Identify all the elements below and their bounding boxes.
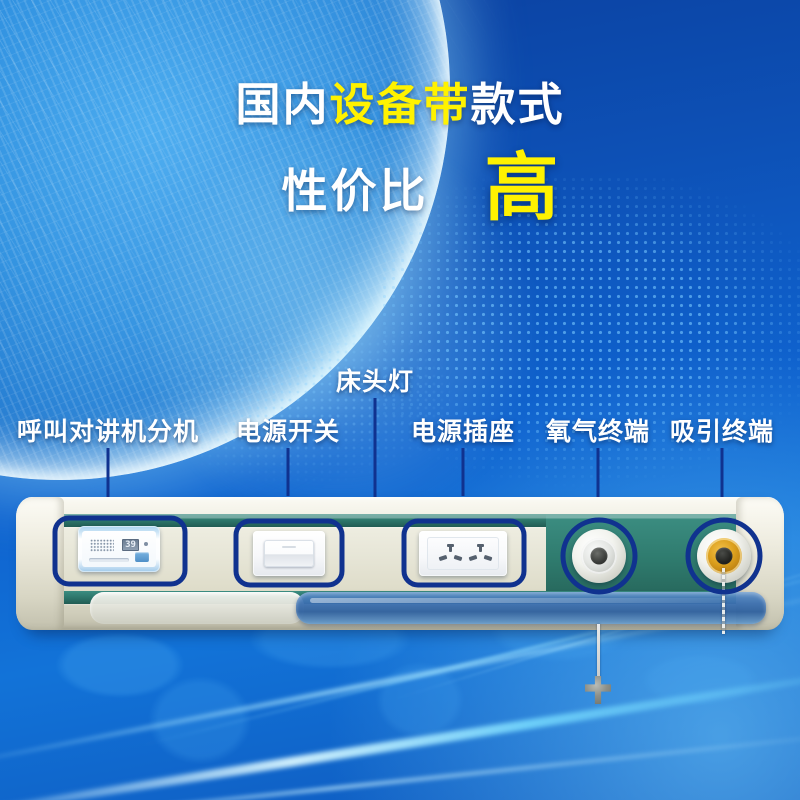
headline-line-1: 国内设备带款式 — [0, 82, 800, 127]
intercom-slot — [89, 558, 129, 562]
socket-pin-vertical — [479, 544, 482, 552]
headline-line-2: 性价比 高 — [0, 153, 800, 223]
headline-emphasis: 高 — [485, 153, 559, 223]
speaker-grille-icon — [90, 539, 114, 552]
status-led-icon — [144, 542, 148, 546]
pull-cord-suction[interactable] — [722, 568, 725, 634]
callout-label-suction-terminal: 吸引终端 — [670, 412, 774, 448]
socket-pin-right — [454, 555, 463, 561]
socket-face — [427, 537, 499, 570]
blue-guard-rail — [296, 592, 766, 624]
oxygen-terminal-ring — [581, 538, 617, 574]
headline-part-2: 设备带 — [329, 79, 470, 130]
socket-pin-left — [439, 555, 448, 561]
callout-label-intercom: 呼叫对讲机分机 — [17, 412, 199, 448]
light-streak — [0, 660, 800, 800]
leader-line-intercom — [107, 448, 110, 498]
switch-indicator-mark — [282, 546, 296, 548]
suction-terminal-port — [716, 548, 733, 565]
intercom-call-button[interactable] — [135, 552, 149, 562]
oxygen-terminal-outlet[interactable] — [572, 529, 626, 583]
rocker-switch[interactable] — [264, 540, 314, 567]
panel-end-cap-left — [16, 497, 64, 630]
power-socket-unit[interactable] — [419, 531, 507, 576]
pull-cord-handle-icon[interactable] — [585, 676, 611, 704]
oxygen-terminal-port — [591, 548, 608, 565]
promo-banner: 国内设备带款式 性价比 高 呼叫对讲机分机 电源开关 床头灯 电源插座 氧气终端 — [0, 0, 800, 800]
light-streak — [0, 725, 800, 800]
nurse-call-intercom-unit[interactable]: 39 — [78, 526, 160, 572]
intercom-face: 39 — [82, 531, 156, 567]
socket-outlet-left[interactable] — [438, 544, 464, 564]
callout-label-power-switch: 电源开关 — [236, 412, 340, 448]
socket-pin-vertical — [449, 544, 452, 552]
callout-label-oxygen-terminal: 氧气终端 — [546, 412, 650, 448]
headline-subtext: 性价比 — [282, 155, 429, 221]
power-switch-unit[interactable] — [253, 531, 325, 576]
headline-block: 国内设备带款式 性价比 高 — [0, 82, 800, 223]
pull-cord-oxygen[interactable] — [597, 624, 600, 682]
leader-line-power-switch — [287, 448, 290, 496]
headline-part-1: 国内 — [235, 79, 329, 130]
leader-line-power-socket — [462, 448, 465, 496]
headline-part-3: 款式 — [471, 79, 565, 130]
socket-outlet-right[interactable] — [468, 544, 494, 564]
callout-label-group: 呼叫对讲机分机 电源开关 床头灯 电源插座 氧气终端 吸引终端 — [0, 352, 800, 502]
socket-pin-right — [484, 555, 493, 561]
callout-label-bed-lamp: 床头灯 — [336, 362, 414, 398]
rail-highlight — [310, 598, 726, 603]
rail-white-section — [90, 592, 304, 624]
intercom-display: 39 — [122, 539, 139, 551]
socket-pin-left — [469, 555, 478, 561]
callout-label-power-socket: 电源插座 — [411, 412, 515, 448]
